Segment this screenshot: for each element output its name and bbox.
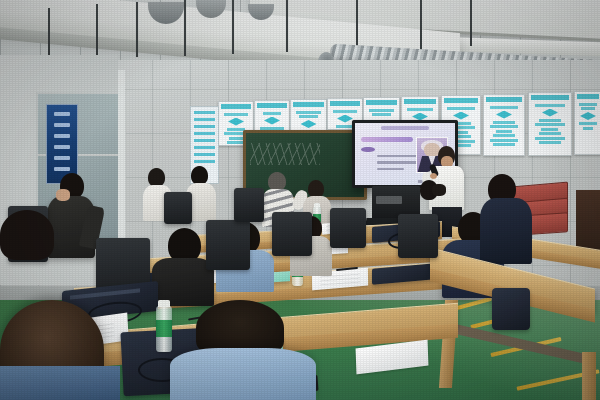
office-chair[interactable]	[164, 192, 192, 224]
attendee-front-left-head	[0, 210, 54, 260]
flowchart-box	[539, 119, 562, 122]
flowchart-decision-diamond	[453, 112, 469, 120]
threaded-hanger-rod	[136, 2, 138, 57]
dark-navy-shirt	[480, 198, 532, 264]
flowchart-poster	[363, 97, 400, 121]
threaded-hanger-rod	[470, 0, 472, 46]
flowchart-box	[579, 103, 597, 106]
poster-header-bar	[366, 100, 397, 105]
chalk-writing	[250, 143, 320, 165]
attendee-hair	[432, 184, 446, 196]
flowchart-box	[229, 137, 243, 140]
flowchart-box	[490, 125, 519, 128]
poster-header-bar	[404, 99, 436, 104]
flowchart-box	[539, 132, 562, 135]
flowchart-decision-diamond	[301, 120, 317, 128]
slide-body-line	[377, 168, 404, 170]
flowchart-box	[490, 106, 519, 109]
flowchart-box	[299, 115, 318, 118]
flowchart-box	[583, 127, 593, 130]
flowchart-box	[369, 109, 394, 112]
light-blue-shirt	[0, 366, 120, 400]
office-chair[interactable]	[234, 188, 264, 222]
flowchart-poster	[574, 91, 600, 155]
flowchart-decision-diamond	[337, 115, 353, 123]
flowchart-box	[447, 107, 474, 110]
flowchart-decision-diamond	[580, 112, 596, 120]
flowchart-box	[539, 141, 562, 144]
poster-header-bar	[531, 95, 569, 100]
flowchart-box	[407, 108, 433, 111]
poster-header-bar	[444, 98, 478, 103]
flowchart-box	[372, 113, 391, 116]
flowchart-box	[541, 128, 558, 131]
flowchart-decision-diamond	[264, 117, 280, 125]
flowchart-poster	[528, 92, 572, 156]
flowchart-box	[535, 137, 565, 140]
flowchart-poster	[483, 94, 525, 156]
flowchart-box	[581, 107, 594, 110]
presenter-hand	[430, 173, 437, 179]
bottle-cap	[158, 300, 170, 307]
threaded-hanger-rod	[232, 0, 234, 54]
flowchart-decision-diamond	[496, 111, 512, 119]
flowchart-box	[579, 122, 597, 125]
flowchart-box	[490, 139, 519, 142]
poster-header-bar	[221, 104, 251, 109]
light-blue-shirt	[170, 348, 316, 400]
flowchart-box	[296, 111, 321, 114]
flowchart-box	[493, 134, 515, 137]
slide-title-bar	[381, 126, 429, 130]
av-cart-panel	[376, 196, 402, 204]
slide-bullet-marker	[361, 147, 375, 153]
poster-header-bar	[257, 103, 287, 108]
flowchart-box	[535, 104, 565, 107]
flowchart-box	[493, 143, 515, 146]
threaded-hanger-rod	[96, 4, 98, 60]
slide-heading-pill	[361, 137, 413, 143]
blue-vertical-banner	[46, 104, 78, 184]
flowchart-decision-diamond	[542, 109, 558, 117]
flowchart-box	[333, 110, 357, 113]
document-bag[interactable]	[492, 288, 530, 330]
bottle-label	[156, 320, 172, 337]
flowchart-box	[493, 121, 515, 124]
office-chair[interactable]	[330, 208, 366, 248]
poster-header-bar	[293, 102, 324, 107]
poster-header-bar	[577, 94, 599, 99]
office-chair[interactable]	[272, 212, 312, 256]
poster-header-bar	[330, 101, 360, 106]
threaded-hanger-rod	[184, 0, 186, 56]
office-chair[interactable]	[206, 220, 250, 270]
slide-body-line	[377, 155, 421, 157]
flowchart-box	[224, 113, 248, 116]
flowchart-box	[535, 123, 565, 126]
flowchart-box	[496, 130, 512, 133]
black-tshirt	[152, 258, 214, 306]
poster-header-bar	[486, 97, 522, 102]
desk-leg	[582, 352, 596, 400]
slide-body-line	[377, 161, 417, 163]
bottle-cap	[314, 203, 320, 207]
threaded-hanger-rod	[420, 0, 422, 52]
office-chair[interactable]	[398, 214, 438, 258]
flowchart-box	[263, 112, 281, 115]
threaded-hanger-rod	[286, 0, 288, 52]
attendee-face	[56, 189, 70, 201]
flowchart-decision-diamond	[228, 118, 244, 126]
training-room-photo: Corporate training session in an industr…	[0, 0, 600, 400]
